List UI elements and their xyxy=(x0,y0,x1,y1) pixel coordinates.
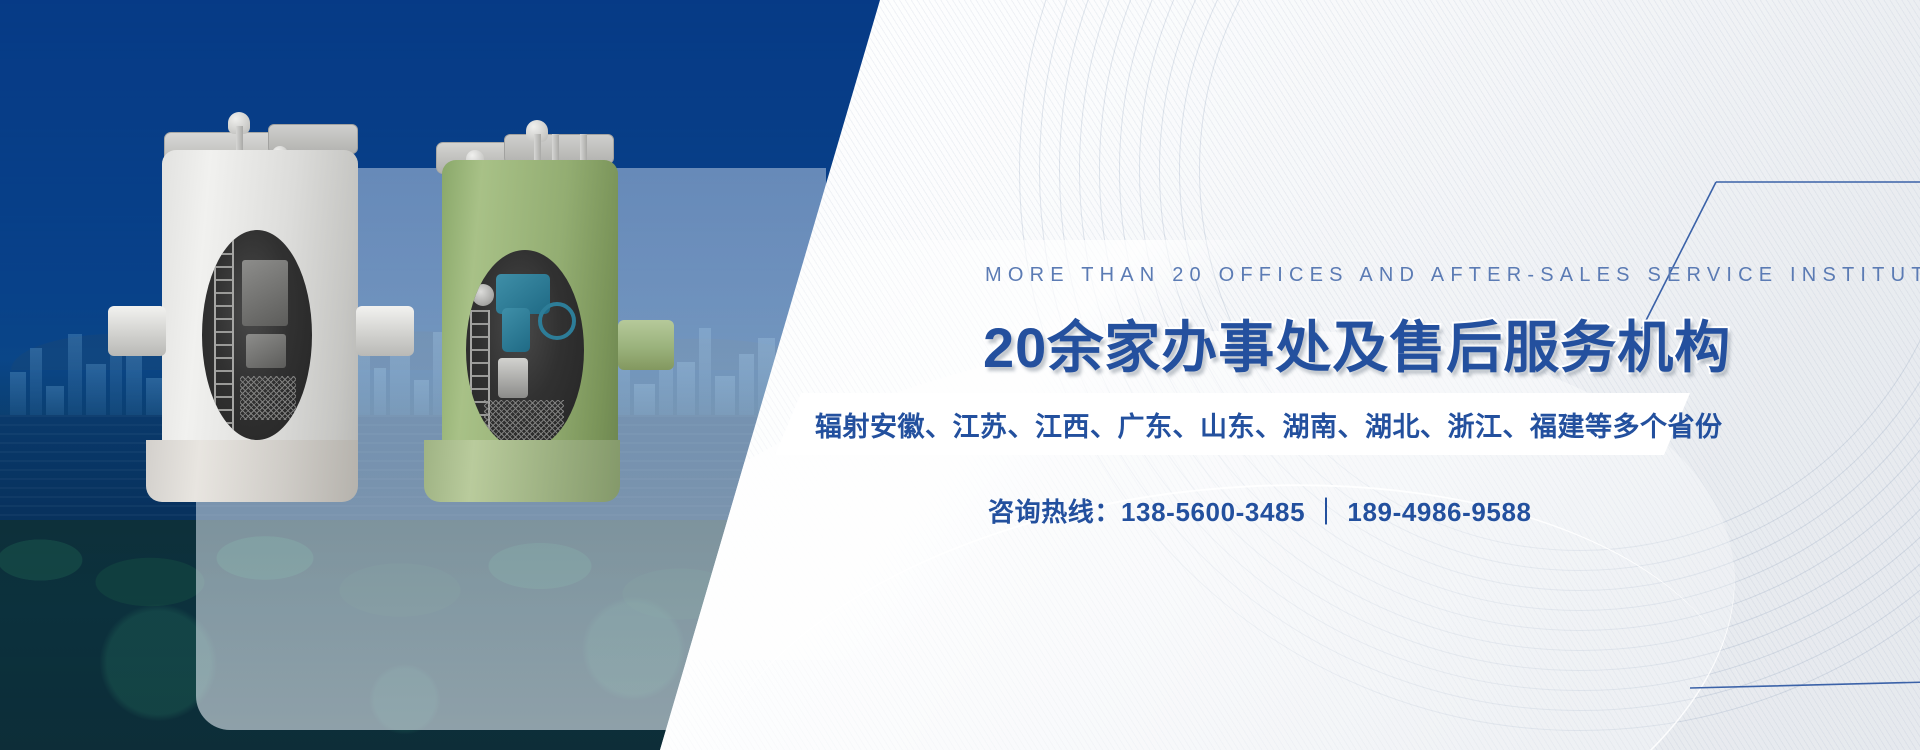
coverage-provinces-text: 辐射安徽、江苏、江西、广东、山东、湖南、湖北、浙江、福建等多个省份 xyxy=(815,405,1723,444)
gray-pump-internal-unit xyxy=(246,334,286,368)
gray-pump-outlet-pipe xyxy=(356,306,414,356)
gray-pump-inlet-pipe xyxy=(108,306,166,356)
gray-pump-grating xyxy=(240,376,296,420)
gray-pump-cutaway-window xyxy=(202,230,312,440)
gray-pump-internal-panel xyxy=(242,260,288,326)
green-pump-valve-handwheel xyxy=(538,302,576,340)
green-pump-outlet-pipe xyxy=(618,320,674,370)
green-pump-cutaway-window xyxy=(466,250,584,450)
banner-eyebrow-text: MORE THAN 20 OFFICES AND AFTER-SALES SER… xyxy=(985,264,1920,287)
green-pump-post-2 xyxy=(580,134,587,160)
green-pump-post-1 xyxy=(552,134,559,160)
green-pump-submersible-pump xyxy=(498,358,528,398)
banner-headline: 20余家办事处及售后服务机构 xyxy=(983,303,1731,384)
hotline-text: 咨询热线：138-5600-3485 ｜ 189-4986-9588 xyxy=(988,492,1532,529)
product-green-pump-station xyxy=(430,120,630,500)
gray-pump-base xyxy=(146,440,358,502)
green-pump-flange xyxy=(472,284,494,306)
gray-pump-ladder xyxy=(214,240,234,430)
green-pump-valve-stem xyxy=(502,308,530,352)
hero-banner: MORE THAN 20 OFFICES AND AFTER-SALES SER… xyxy=(0,0,1920,750)
green-pump-grating xyxy=(484,400,564,440)
product-gray-pump-station xyxy=(150,110,370,500)
green-pump-vent-stack xyxy=(534,134,541,160)
green-pump-base xyxy=(424,440,620,502)
